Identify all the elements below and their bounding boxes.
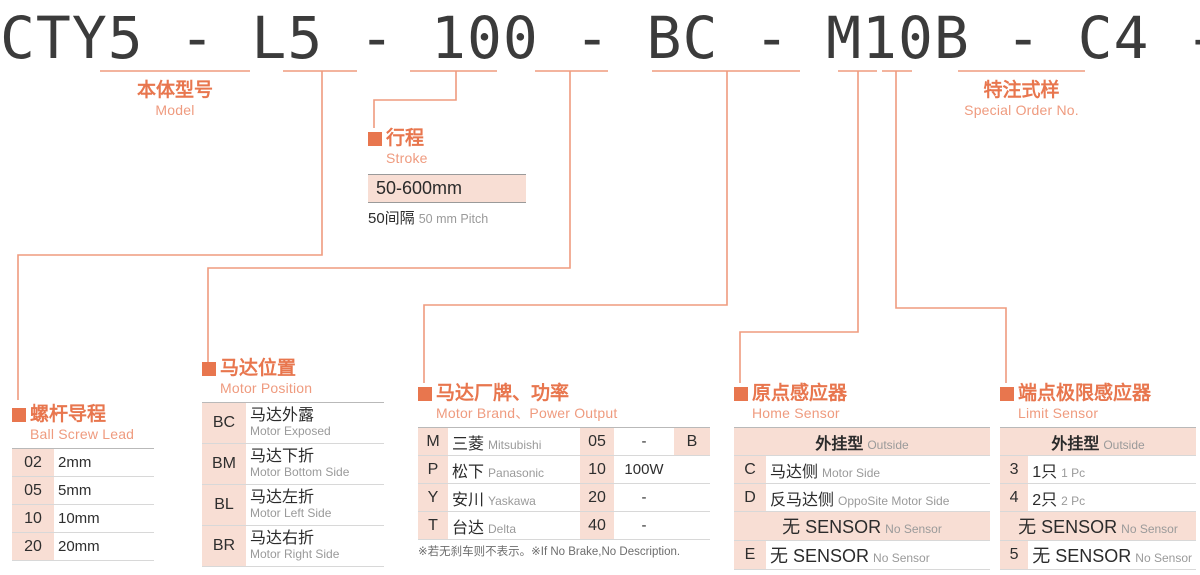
home-sensor-section-header: 外挂型Outside — [734, 428, 990, 456]
table-row-header: 无 SENSORNo Sensor — [734, 512, 990, 541]
motor-position-code: BR — [202, 526, 246, 567]
motor-position-desc-en: Motor Right Side — [250, 548, 380, 561]
limit-sensor-desc-en: 2 Pc — [1061, 494, 1085, 508]
group-limit-sensor-title-en: Limit Sensor — [1018, 405, 1196, 421]
table-row[interactable]: E 无 SENSORNo Sensor — [734, 541, 990, 570]
bullet-square-icon — [12, 408, 26, 422]
group-special-order: 特注式样 Special Order No. — [958, 80, 1085, 118]
bullet-square-icon — [418, 387, 432, 401]
lead-code: 10 — [12, 505, 54, 533]
limit-sensor-section-header: 无 SENSORNo Sensor — [1000, 512, 1196, 541]
stroke-pitch-note-en: 50 mm Pitch — [419, 212, 488, 226]
power-output: - — [614, 428, 674, 456]
brand-name-cn: 安川 — [452, 492, 484, 509]
group-home-sensor-title-cn: 原点感应器 — [734, 383, 990, 405]
power-code: 10 — [580, 456, 614, 484]
home-sensor-desc-cn: 无 SENSOR — [770, 546, 869, 566]
brand-code: M — [418, 428, 448, 456]
limit-sensor-table: 外挂型Outside 3 1只1 Pc 4 2只2 Pc — [1000, 427, 1196, 570]
table-row[interactable]: 20 20mm — [12, 533, 154, 561]
home-sensor-desc-en: Motor Side — [822, 466, 880, 480]
power-code: 05 — [580, 428, 614, 456]
group-ball-screw-lead-title-cn: 螺杆导程 — [12, 404, 154, 426]
limit-sensor-code: 5 — [1000, 541, 1028, 570]
group-limit-sensor: 端点极限感应器 Limit Sensor 外挂型Outside 3 1只1 Pc… — [1000, 383, 1196, 570]
motor-position-desc: 马达右折 Motor Right Side — [246, 526, 384, 567]
limit-sensor-desc-en: 1 Pc — [1061, 466, 1085, 480]
limit-sensor-desc: 1只1 Pc — [1028, 456, 1196, 484]
group-motor-position-title-cn: 马达位置 — [202, 358, 384, 380]
motor-position-desc: 马达下折 Motor Bottom Side — [246, 444, 384, 485]
motor-position-desc-cn: 马达左折 — [250, 490, 380, 507]
brand-code: Y — [418, 484, 448, 512]
table-row[interactable]: BL 马达左折 Motor Left Side — [202, 485, 384, 526]
brake-code — [674, 484, 710, 512]
group-stroke: 行程 Stroke 50-600mm 50间隔50 mm Pitch — [368, 128, 526, 228]
group-special-order-title-cn: 特注式样 — [958, 80, 1085, 102]
lead-value: 10mm — [54, 505, 154, 533]
table-row[interactable]: P 松下Panasonic 10 100W — [418, 456, 710, 484]
power-output: - — [614, 512, 674, 540]
table-row-header: 外挂型Outside — [734, 428, 990, 456]
stroke-range-value: 50-600mm — [368, 174, 526, 203]
group-model: 本体型号 Model — [100, 80, 250, 118]
brand-name-cn: 松下 — [452, 464, 484, 481]
group-home-sensor-title-en: Home Sensor — [752, 405, 990, 421]
motor-brand-footnote: ※若无刹车则不表示。※If No Brake,No Description. — [418, 543, 710, 559]
power-output: 100W — [614, 456, 674, 484]
motor-position-code: BM — [202, 444, 246, 485]
brand-code: T — [418, 512, 448, 540]
home-sensor-table: 外挂型Outside C 马达侧Motor Side D 反马达侧OppoSit… — [734, 427, 990, 570]
table-row-header: 外挂型Outside — [1000, 428, 1196, 456]
table-row[interactable]: 4 2只2 Pc — [1000, 484, 1196, 512]
table-row-header: 无 SENSORNo Sensor — [1000, 512, 1196, 541]
motor-brand-table: M 三菱Mitsubishi 05 - B P 松下Panasonic 10 1… — [418, 427, 710, 540]
motor-position-desc-cn: 马达右折 — [250, 531, 380, 548]
group-motor-brand-title-cn: 马达厂牌、功率 — [418, 383, 710, 405]
motor-position-code: BL — [202, 485, 246, 526]
group-home-sensor: 原点感应器 Home Sensor 外挂型Outside C 马达侧Motor … — [734, 383, 990, 570]
bullet-square-icon — [1000, 387, 1014, 401]
table-row[interactable]: 10 10mm — [12, 505, 154, 533]
power-code: 40 — [580, 512, 614, 540]
table-row[interactable]: T 台达Delta 40 - — [418, 512, 710, 540]
motor-position-desc-en: Motor Bottom Side — [250, 466, 380, 479]
motor-position-desc-cn: 马达外露 — [250, 408, 380, 425]
section-header-en: Outside — [867, 438, 908, 452]
section-header-cn: 无 SENSOR — [1018, 517, 1117, 537]
brand-name: 三菱Mitsubishi — [448, 428, 580, 456]
brand-name-en: Yaskawa — [488, 494, 536, 508]
stroke-pitch-note-cn: 50间隔 — [368, 210, 415, 227]
stroke-pitch-note: 50间隔50 mm Pitch — [368, 207, 526, 228]
brand-name-en: Delta — [488, 522, 516, 536]
table-row[interactable]: 3 1只1 Pc — [1000, 456, 1196, 484]
ball-screw-lead-table: 02 2mm 05 5mm 10 10mm 20 20mm — [12, 448, 154, 561]
home-sensor-desc-en: OppoSite Motor Side — [838, 494, 949, 508]
section-header-cn: 外挂型 — [815, 436, 863, 453]
table-row[interactable]: BC 马达外露 Motor Exposed — [202, 403, 384, 444]
table-row[interactable]: Y 安川Yaskawa 20 - — [418, 484, 710, 512]
power-output: - — [614, 484, 674, 512]
brand-name-cn: 三菱 — [452, 436, 484, 453]
group-motor-brand: 马达厂牌、功率 Motor Brand、Power Output M 三菱Mit… — [418, 383, 710, 559]
limit-sensor-desc-en: No Sensor — [1135, 551, 1192, 565]
limit-sensor-desc-cn: 2只 — [1032, 492, 1057, 509]
table-row[interactable]: BR 马达右折 Motor Right Side — [202, 526, 384, 567]
bullet-square-icon — [734, 387, 748, 401]
home-sensor-desc-en: No Sensor — [873, 551, 930, 565]
lead-value: 5mm — [54, 477, 154, 505]
motor-position-desc: 马达外露 Motor Exposed — [246, 403, 384, 444]
brake-code: B — [674, 428, 710, 456]
brand-name-en: Panasonic — [488, 466, 544, 480]
lead-value: 2mm — [54, 449, 154, 477]
group-motor-brand-title-en: Motor Brand、Power Output — [436, 405, 710, 421]
group-stroke-title-en: Stroke — [386, 150, 526, 166]
group-stroke-title-cn: 行程 — [368, 128, 526, 150]
section-header-cn: 外挂型 — [1051, 436, 1099, 453]
group-model-title-cn: 本体型号 — [100, 80, 250, 102]
brand-name: 台达Delta — [448, 512, 580, 540]
lead-code: 02 — [12, 449, 54, 477]
brake-code — [674, 456, 710, 484]
section-header-en: Outside — [1103, 438, 1144, 452]
brand-name: 松下Panasonic — [448, 456, 580, 484]
limit-sensor-section-header: 外挂型Outside — [1000, 428, 1196, 456]
table-row[interactable]: C 马达侧Motor Side — [734, 456, 990, 484]
table-row[interactable]: 05 5mm — [12, 477, 154, 505]
motor-position-desc-en: Motor Exposed — [250, 425, 380, 438]
motor-position-desc-en: Motor Left Side — [250, 507, 380, 520]
group-model-title-en: Model — [100, 102, 250, 118]
motor-position-table: BC 马达外露 Motor Exposed BM 马达下折 Motor Bott… — [202, 402, 384, 567]
part-number-breakdown-diagram: CTY5 - L5 - 100 - BC - M10B - C4 - 0001 — [0, 0, 1200, 575]
table-row[interactable]: 02 2mm — [12, 449, 154, 477]
home-sensor-desc: 马达侧Motor Side — [766, 456, 990, 484]
brand-name: 安川Yaskawa — [448, 484, 580, 512]
motor-position-code: BC — [202, 403, 246, 444]
home-sensor-code: C — [734, 456, 766, 484]
group-limit-sensor-title-cn: 端点极限感应器 — [1000, 383, 1196, 405]
brake-code — [674, 512, 710, 540]
group-ball-screw-lead-title-en: Ball Screw Lead — [30, 426, 154, 442]
group-special-order-title-en: Special Order No. — [958, 102, 1085, 118]
product-code: CTY5 - L5 - 100 - BC - M10B - C4 - 0001 — [0, 4, 1200, 72]
table-row[interactable]: 5 无 SENSORNo Sensor — [1000, 541, 1196, 570]
limit-sensor-code: 3 — [1000, 456, 1028, 484]
bullet-square-icon — [368, 132, 382, 146]
group-ball-screw-lead: 螺杆导程 Ball Screw Lead 02 2mm 05 5mm 10 10… — [12, 404, 154, 561]
section-header-en: No Sensor — [885, 522, 942, 536]
section-header-cn: 无 SENSOR — [782, 517, 881, 537]
lead-code: 05 — [12, 477, 54, 505]
bullet-square-icon — [202, 362, 216, 376]
home-sensor-desc: 无 SENSORNo Sensor — [766, 541, 990, 570]
motor-position-desc: 马达左折 Motor Left Side — [246, 485, 384, 526]
table-row[interactable]: BM 马达下折 Motor Bottom Side — [202, 444, 384, 485]
limit-sensor-desc-cn: 1只 — [1032, 464, 1057, 481]
home-sensor-desc: 反马达侧OppoSite Motor Side — [766, 484, 990, 512]
power-code: 20 — [580, 484, 614, 512]
motor-position-desc-cn: 马达下折 — [250, 449, 380, 466]
group-motor-position: 马达位置 Motor Position BC 马达外露 Motor Expose… — [202, 358, 384, 567]
limit-sensor-code: 4 — [1000, 484, 1028, 512]
table-row[interactable]: M 三菱Mitsubishi 05 - B — [418, 428, 710, 456]
brand-name-cn: 台达 — [452, 520, 484, 537]
table-row[interactable]: D 反马达侧OppoSite Motor Side — [734, 484, 990, 512]
home-sensor-code: E — [734, 541, 766, 570]
limit-sensor-desc: 2只2 Pc — [1028, 484, 1196, 512]
limit-sensor-desc-cn: 无 SENSOR — [1032, 546, 1131, 566]
brand-code: P — [418, 456, 448, 484]
brand-name-en: Mitsubishi — [488, 438, 541, 452]
home-sensor-desc-cn: 马达侧 — [770, 464, 818, 481]
home-sensor-desc-cn: 反马达侧 — [770, 492, 834, 509]
lead-value: 20mm — [54, 533, 154, 561]
lead-code: 20 — [12, 533, 54, 561]
group-motor-position-title-en: Motor Position — [220, 380, 384, 396]
home-sensor-code: D — [734, 484, 766, 512]
home-sensor-section-header: 无 SENSORNo Sensor — [734, 512, 990, 541]
section-header-en: No Sensor — [1121, 522, 1178, 536]
limit-sensor-desc: 无 SENSORNo Sensor — [1028, 541, 1196, 570]
